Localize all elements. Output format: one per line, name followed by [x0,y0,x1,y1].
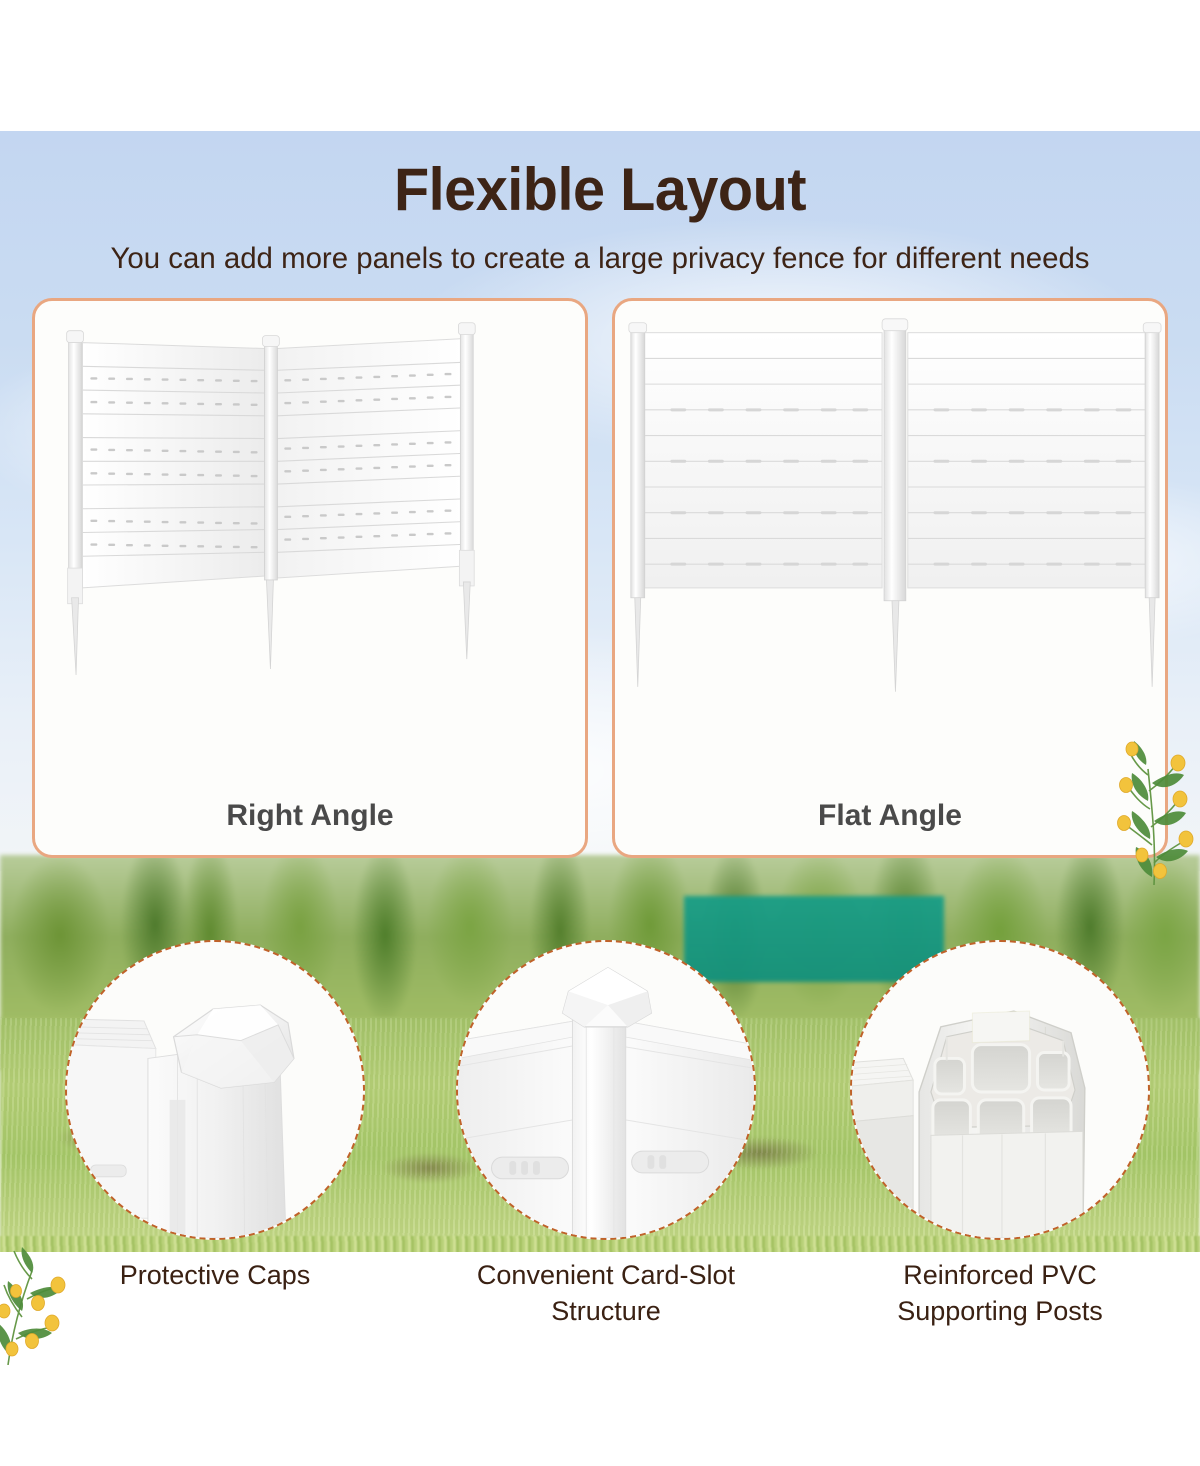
right-panel-face [624,1021,754,1238]
caption-card-slot: Convenient Card-Slot Structure [441,1258,771,1329]
flower-sprig-left-icon [0,1245,90,1365]
flat-post-center [882,319,908,692]
caption-3-line2: Supporting Posts [897,1296,1103,1326]
top-white-band [0,0,1200,131]
caption-protective-caps: Protective Caps [50,1258,380,1294]
flat-post-left [629,323,647,687]
feature-photo-reinforced-posts [850,940,1150,1240]
caption-reinforced-posts: Reinforced PVC Supporting Posts [835,1258,1165,1329]
feature-photo-protective-caps [65,940,365,1240]
flat-post-right [1143,323,1161,687]
fence-post-center [263,336,280,669]
panel-edge [67,1019,156,1218]
caption-1-line1: Protective Caps [120,1260,311,1290]
left-panel-face [458,1021,574,1238]
caption-3-line1: Reinforced PVC [903,1260,1097,1290]
page-subtitle: You can add more panels to create a larg… [12,242,1188,276]
post-cross-section-closeup-art [852,942,1148,1238]
flat-angle-fence-illustration [615,301,1165,855]
card-flat-angle: Flat Angle [612,298,1168,858]
corner-post-slot-closeup-art [458,942,754,1238]
protective-cap [174,1005,294,1088]
feature-photo-card-slot [456,940,756,1240]
caption-2-line2: Structure [551,1296,661,1326]
card-label-right-angle: Right Angle [35,799,585,833]
fence-post-right [458,323,475,659]
flat-left-panel [645,333,882,588]
caption-2-line1: Convenient Card-Slot [477,1260,735,1290]
flower-sprig-right-icon [1108,735,1200,885]
page-title: Flexible Layout [24,155,1176,224]
post-cap-closeup-art [67,942,363,1238]
left-panel-wing [82,343,264,588]
post-front-wall [931,1131,1083,1238]
card-label-flat-angle: Flat Angle [615,799,1165,833]
card-slot-right [632,1151,709,1173]
post-cap [563,968,652,1027]
flat-right-panel [908,333,1145,588]
fence-post-left [67,331,84,675]
right-panel-wing [277,339,462,578]
center-post [572,1009,625,1238]
card-right-angle: Right Angle [32,298,588,858]
panel-slab [852,1058,913,1238]
right-angle-fence-illustration [35,301,585,855]
card-slot-left [492,1157,569,1179]
